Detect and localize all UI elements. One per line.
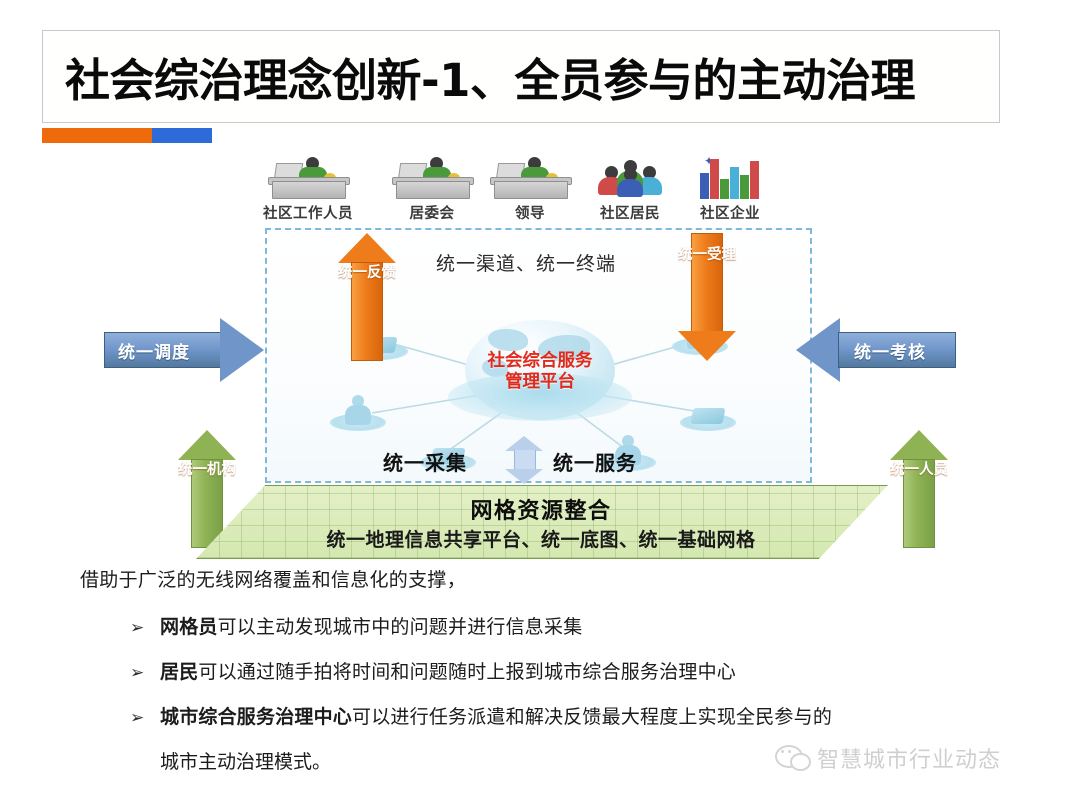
list-item-keyword: 居民 — [160, 661, 198, 683]
list-item: ➢城市综合服务治理中心可以进行任务派遣和解决反馈最大程度上实现全民参与的 — [130, 702, 832, 729]
accent-bar — [42, 128, 212, 143]
actor-community-staff: 社区工作人员 — [256, 155, 360, 223]
arrow-unified-staff: 统一人员 — [890, 430, 948, 548]
actor-neighborhood-committee: 居委会 — [380, 155, 484, 223]
bullet-arrow-icon: ➢ — [130, 663, 160, 683]
arrow-label: 统一受理 — [678, 247, 736, 264]
bullet-arrow-icon: ➢ — [130, 708, 160, 728]
actor-residents: 社区居民 — [578, 155, 682, 223]
enterprise-bars-icon: ✦ — [678, 155, 782, 199]
double-vertical-arrow-icon — [505, 436, 543, 484]
grid-resource-plane: 网格资源整合 统一地理信息共享平台、统一底图、统一基础网格 — [196, 485, 886, 557]
architecture-diagram: 社区工作人员 居委会 领导 社区居民 — [0, 155, 1080, 565]
wechat-bubbles-icon — [775, 745, 809, 771]
desk-worker-icon — [478, 155, 582, 199]
intro-sentence: 借助于广泛的无线网络覆盖和信息化的支撑， — [80, 565, 466, 592]
actor-enterprises: ✦ 社区企业 — [678, 155, 782, 223]
list-item-keyword: 网格员 — [160, 616, 218, 638]
network-node — [680, 391, 736, 431]
central-platform-globe: 社会综合服务 管理平台 — [430, 315, 650, 435]
actor-label: 居委会 — [380, 202, 484, 223]
list-item-text: 可以进行任务派遣和解决反馈最大程度上实现全民参与的 — [352, 706, 832, 728]
bullet-arrow-icon: ➢ — [130, 618, 160, 638]
platform-label-line1: 社会综合服务 — [430, 351, 650, 372]
list-item-text: 可以主动发现城市中的问题并进行信息采集 — [218, 616, 583, 638]
list-item: ➢网格员可以主动发现城市中的问题并进行信息采集 — [130, 612, 582, 639]
actor-leader: 领导 — [478, 155, 582, 223]
arrow-label: 统一调度 — [118, 338, 190, 363]
slide-title-box: 社会综治理念创新-1、全员参与的主动治理 — [42, 30, 1000, 123]
platform-label-line2: 管理平台 — [430, 372, 650, 393]
arrow-unified-acceptance: 统一受理 — [678, 233, 736, 361]
list-item-continuation: 城市主动治理模式。 — [160, 747, 331, 774]
grid-plane-subtitle: 统一地理信息共享平台、统一底图、统一基础网格 — [196, 525, 886, 552]
channel-label: 统一渠道、统一终端 — [436, 249, 616, 276]
label-unified-service: 统一服务 — [553, 447, 637, 476]
actor-label: 社区工作人员 — [256, 202, 360, 223]
actor-label: 社区居民 — [578, 202, 682, 223]
watermark-text: 智慧城市行业动态 — [817, 742, 1001, 774]
actor-label: 领导 — [478, 202, 582, 223]
list-item: ➢居民可以通过随手拍将时间和问题随时上报到城市综合服务治理中心 — [130, 657, 736, 684]
desk-worker-icon — [380, 155, 484, 199]
accent-bar-blue — [152, 128, 212, 143]
arrow-unified-assessment: 统一考核 — [796, 318, 956, 382]
arrow-unified-dispatch: 统一调度 — [104, 318, 264, 382]
network-node — [330, 391, 386, 431]
people-group-icon — [578, 155, 682, 199]
watermark: 智慧城市行业动态 — [775, 742, 1001, 774]
list-item-text: 可以通过随手拍将时间和问题随时上报到城市综合服务治理中心 — [198, 661, 736, 683]
grid-plane-title: 网格资源整合 — [196, 493, 886, 525]
page-title: 社会综治理念创新-1、全员参与的主动治理 — [65, 44, 915, 109]
arrow-label: 统一考核 — [854, 338, 926, 363]
list-item-keyword: 城市综合服务治理中心 — [160, 706, 352, 728]
actor-label: 社区企业 — [678, 202, 782, 223]
arrow-label: 统一反馈 — [338, 265, 396, 282]
arrow-unified-feedback: 统一反馈 — [338, 233, 396, 361]
desk-worker-icon — [256, 155, 360, 199]
platform-label: 社会综合服务 管理平台 — [430, 351, 650, 393]
arrow-label: 统一机构 — [178, 462, 236, 479]
label-unified-collection: 统一采集 — [383, 447, 467, 476]
arrow-label: 统一人员 — [890, 462, 948, 479]
accent-bar-orange — [42, 128, 152, 143]
